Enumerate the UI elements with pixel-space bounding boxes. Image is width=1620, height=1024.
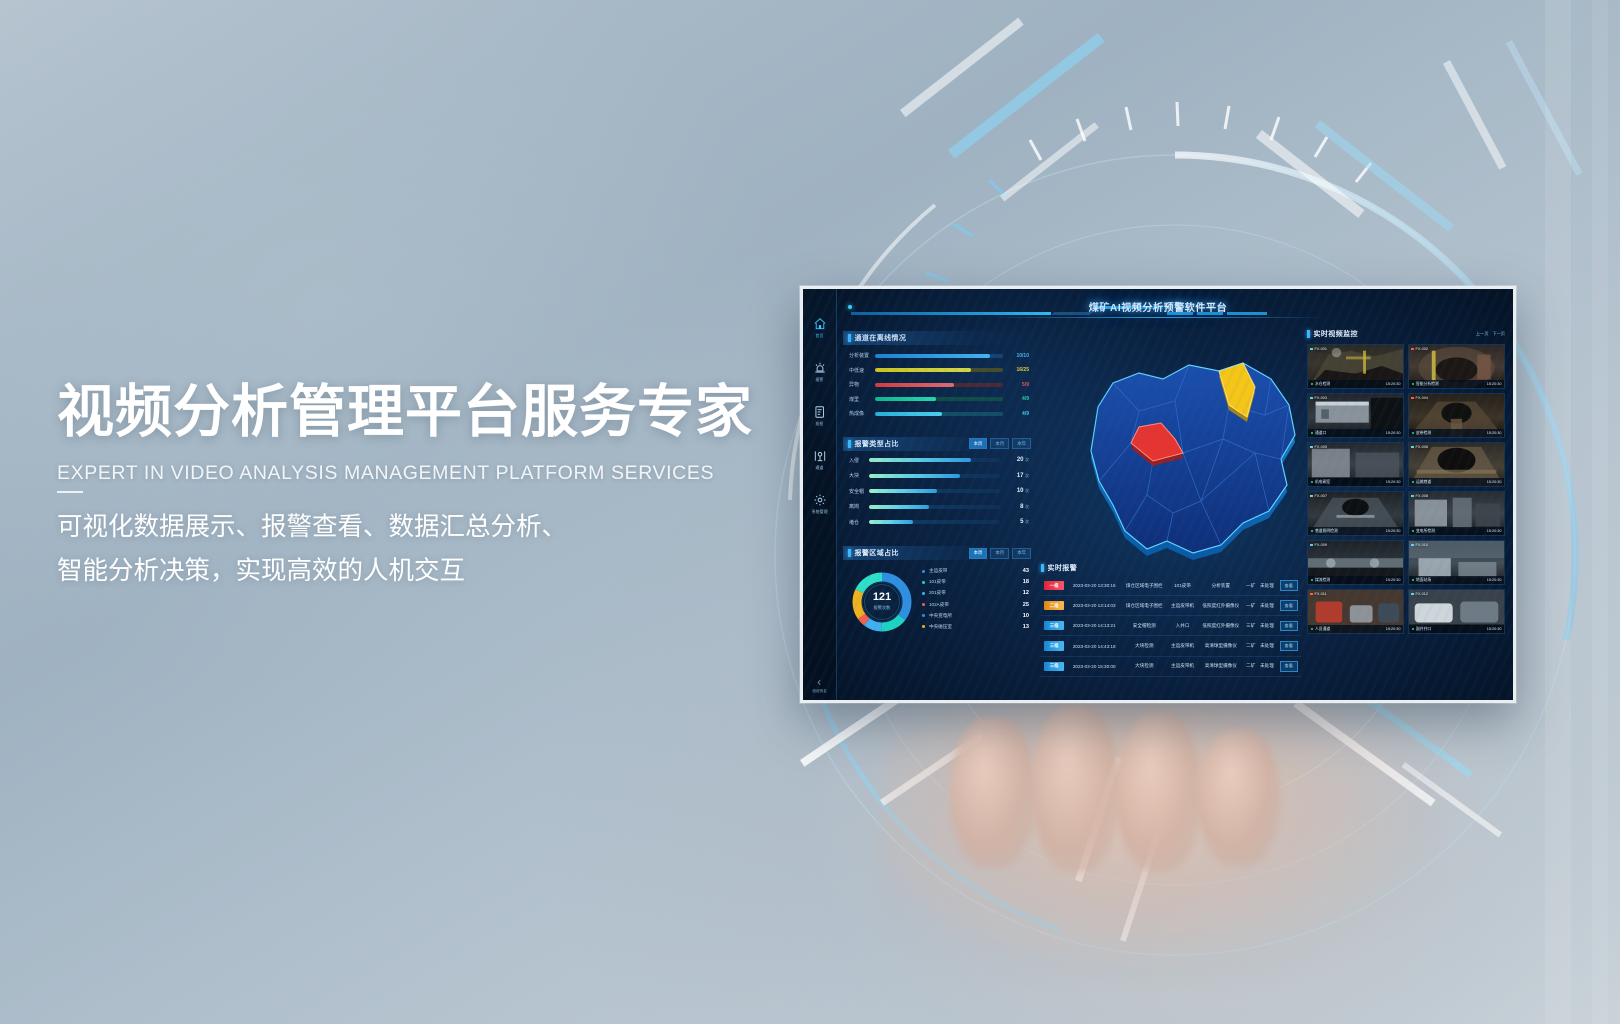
alarm-table: 一级 2023-03-20 13:30:16 煤仓区域电子围栏 101皮带 分析…: [1041, 576, 1301, 677]
video-statusbar: 通道口15:20:30: [1308, 429, 1403, 437]
video-code: FX-005: [1315, 445, 1327, 449]
accent-bar: [1307, 330, 1310, 338]
video-title: 实时视频监控: [1314, 329, 1358, 339]
panel-alarm-area: 报警区域占比 本周 本月 本年: [843, 546, 1035, 641]
video-time: 15:20:30: [1487, 480, 1502, 484]
legend-item: 102A皮带 25: [922, 602, 1029, 608]
donut-caption: 报警次数: [874, 605, 891, 611]
tab-month[interactable]: 本月: [990, 438, 1009, 449]
sidebar-label-channel: 通道: [815, 465, 823, 471]
table-row[interactable]: 三级 2023-03-20 15:30:00 大块检测 主运皮带机 高清球型摄像…: [1041, 656, 1301, 676]
channel-name: 异物: [849, 381, 875, 388]
alarm-type-name: 大块: [849, 472, 869, 479]
sidebar-item-system[interactable]: 系统管理: [803, 493, 836, 515]
alarm-type: 大块检测: [1121, 636, 1168, 656]
channel-row: 煤里 4/9: [849, 396, 1029, 403]
finger-decor-2: [1032, 706, 1120, 872]
panel-video-monitoring: 实时视频监控 上一页 下一页: [1307, 329, 1505, 634]
video-time: 15:20:30: [1487, 431, 1502, 435]
video-code: FX-008: [1416, 494, 1428, 498]
donut-center: 121 报警次数: [864, 584, 900, 620]
legend-value: 12: [1015, 590, 1029, 596]
hero-subtitle-en: EXPERT IN VIDEO ANALYSIS MANAGEMENT PLAT…: [57, 462, 817, 485]
alarm-type-row: 大块 17 次: [849, 472, 1029, 479]
accent-bar: [848, 549, 851, 557]
video-code-tag: FX-004: [1411, 396, 1428, 400]
realtime-alarm-title: 实时报警: [1048, 563, 1078, 573]
sidebar-item-channel[interactable]: 通道: [803, 449, 836, 471]
alarm-type: 煤仓区域电子围栏: [1121, 596, 1168, 616]
alarm-type-value: 5: [1000, 519, 1024, 525]
video-code-tag: FX-007: [1310, 494, 1327, 498]
next-page-button[interactable]: 下一页: [1492, 331, 1505, 337]
legend-item: 中央磁压室 13: [922, 624, 1029, 630]
video-statusbar: 巷道照明检测15:20:30: [1308, 527, 1403, 535]
video-time: 15:20:30: [1386, 382, 1401, 386]
panel-alarm-area-header: 报警区域占比 本周 本月 本年: [843, 546, 1035, 560]
video-statusbar: 煤流检测15:20:30: [1308, 576, 1403, 584]
video-cell[interactable]: FX-001 水仓检测15:20:30: [1307, 344, 1404, 389]
tab-year[interactable]: 本年: [1012, 438, 1031, 449]
sidebar-footer[interactable]: 统设别名: [812, 678, 826, 694]
video-name: 通道口: [1315, 431, 1326, 436]
panel-alarm-type-header: 报警类型占比 本周 本月 本年: [843, 437, 1035, 451]
alarm-type-value: 10: [1000, 488, 1024, 494]
table-row[interactable]: 三级 2023-03-20 14:13:21 安全帽检测 入井口 低照度红外摄像…: [1041, 616, 1301, 636]
video-code: FX-003: [1315, 396, 1327, 400]
video-statusbar: 人员通道15:20:30: [1308, 625, 1403, 633]
status-badge: 一级: [1044, 581, 1064, 590]
legend-item: 201皮带 12: [922, 590, 1029, 596]
tab-week[interactable]: 本周: [969, 548, 988, 559]
video-grid: FX-001 水仓检测15:20:30 FX-002: [1307, 344, 1505, 634]
video-code: FX-009: [1315, 543, 1327, 547]
video-code: FX-001: [1315, 347, 1327, 351]
video-code: FX-006: [1416, 445, 1428, 449]
tab-month[interactable]: 本月: [990, 548, 1009, 559]
panel-channel-header: 通道在离线情况: [843, 331, 1035, 345]
video-code-tag: FX-012: [1411, 592, 1428, 596]
donut-total: 121: [873, 592, 891, 603]
video-code: FX-007: [1315, 494, 1327, 498]
alarm-type: 煤仓区域电子围栏: [1121, 576, 1168, 596]
video-statusbar: 地面站场15:20:30: [1409, 576, 1504, 584]
alarm-place: 主运皮带机: [1168, 596, 1198, 616]
alarm-level-cell: 三级: [1041, 656, 1067, 676]
video-code: FX-002: [1416, 347, 1428, 351]
alarm-type-value: 20: [1000, 457, 1024, 463]
accent-bar: [1041, 564, 1044, 572]
legend-label: 201皮带: [929, 590, 1015, 596]
panel-alarm-type-title: 报警类型占比: [855, 439, 899, 449]
sidebar-label-system: 系统管理: [811, 509, 827, 515]
video-time: 15:20:30: [1386, 627, 1401, 631]
alarm-type-list: 入侵 20 次 大块 17 次 安全帽: [843, 451, 1035, 539]
prev-page-button[interactable]: 上一页: [1476, 331, 1489, 337]
legend-item: 中央变电所 10: [922, 613, 1029, 619]
alarm-type-row: 入侵 20 次: [849, 457, 1029, 464]
alarm-type-unit: 次: [1025, 488, 1029, 494]
sidebar-label-inspection: 巡检: [815, 421, 823, 427]
left-column: 通道在离线情况 分析装置 10/10 中低速 16/25: [843, 331, 1035, 649]
video-statusbar: 智能分析检测15:20:30: [1409, 380, 1504, 388]
alarm-type: 安全帽检测: [1121, 616, 1168, 636]
channel-row: 分析装置 10/10: [849, 352, 1029, 359]
video-time: 15:20:30: [1386, 431, 1401, 435]
alarm-action-cell: 查看: [1276, 596, 1301, 616]
legend-value: 25: [1015, 602, 1029, 608]
alarm-type-unit: 次: [1025, 504, 1029, 510]
sidebar-item-home[interactable]: 首页: [803, 317, 836, 339]
channel-name: 煤里: [849, 396, 875, 403]
alarm-time: 2023-03-20 15:30:00: [1067, 656, 1121, 676]
dashboard-screen: 煤矿AI视频分析预警软件平台 首页 报警: [803, 289, 1513, 700]
video-code-tag: FX-005: [1310, 445, 1327, 449]
table-row[interactable]: 二级 2023-03-20 13:14:03 煤仓区域电子围栏 主运皮带机 低照…: [1041, 596, 1301, 616]
dashboard-title: 煤矿AI视频分析预警软件平台: [803, 299, 1513, 314]
accent-bar: [848, 440, 851, 448]
video-header: 实时视频监控 上一页 下一页: [1307, 329, 1505, 339]
legend-value: 10: [1015, 613, 1029, 619]
hero-desc-line-2: 智能分析决策，实现高效的人机交互: [57, 549, 817, 594]
realtime-alarm-header: 实时报警: [1041, 563, 1301, 573]
video-name: 人员通道: [1315, 627, 1330, 632]
sidebar-label-home: 首页: [815, 333, 823, 339]
alarm-type-unit: 次: [1025, 519, 1029, 525]
donut-legend: 主运皮带 43 101皮带 18 201皮带 12: [913, 568, 1029, 635]
alarm-type-row: 离岗 8 次: [849, 503, 1029, 510]
alarm-type-name: 堵仓: [849, 519, 869, 526]
channel-row: 异物 5/9: [849, 381, 1029, 388]
alarm-type-tabs: 本周 本月 本年: [969, 438, 1035, 449]
alarm-action-cell: 查看: [1276, 616, 1301, 636]
channel-value: 16/25: [1003, 367, 1029, 373]
panel-alarm-type: 报警类型占比 本周 本月 本年 入侵 20 次: [843, 437, 1035, 539]
legend-label: 中央磁压室: [929, 624, 1015, 630]
legend-label: 101皮带: [929, 579, 1015, 585]
video-cell[interactable]: FX-005 机电硐室15:20:30: [1307, 442, 1404, 487]
video-code-tag: FX-006: [1411, 445, 1428, 449]
video-time: 15:20:30: [1386, 578, 1401, 582]
video-statusbar: 皮带检测15:20:30: [1409, 429, 1504, 437]
video-name: 变电所检测: [1416, 529, 1435, 534]
channel-row: 中低速 16/25: [849, 367, 1029, 374]
legend-label: 102A皮带: [929, 602, 1015, 608]
finger-decor-3: [1116, 714, 1202, 872]
video-cell[interactable]: FX-007 巷道照明检测15:20:30: [1307, 491, 1404, 536]
alarm-device: 分析装置: [1198, 576, 1245, 596]
video-cell[interactable]: FX-003 通道口15:20:30: [1307, 393, 1404, 438]
province-map[interactable]: [1043, 335, 1333, 585]
alarm-level-cell: 三级: [1041, 636, 1067, 656]
alarm-mine: 一矿: [1244, 576, 1257, 596]
video-time: 15:20:30: [1487, 529, 1502, 533]
video-code-tag: FX-010: [1411, 543, 1428, 547]
video-name: 智能分析检测: [1416, 382, 1439, 387]
video-name: 运输巷道: [1416, 480, 1431, 485]
video-code-tag: FX-001: [1310, 347, 1327, 351]
alarm-type-row: 安全帽 10 次: [849, 488, 1029, 495]
video-code: FX-004: [1416, 396, 1428, 400]
video-pager: 上一页 下一页: [1476, 331, 1505, 337]
channel-value: 5/9: [1003, 382, 1029, 388]
alarm-type-unit: 次: [1025, 457, 1029, 463]
panel-realtime-alarm: 实时报警 一级 2023-03-20 13:30:16 煤仓区域电子围栏 101…: [1041, 563, 1301, 677]
view-button[interactable]: 查看: [1280, 600, 1298, 611]
video-time: 15:20:30: [1487, 627, 1502, 631]
video-name: 皮带检测: [1416, 431, 1431, 436]
legend-label: 中央变电所: [929, 613, 1015, 619]
alarm-mine: 二矿: [1244, 656, 1257, 676]
video-name: 地面站场: [1416, 578, 1431, 583]
title-underline: [988, 317, 1328, 318]
alarm-type-name: 离岗: [849, 503, 869, 510]
hero-text: 视频分析管理平台服务专家 EXPERT IN VIDEO ANALYSIS MA…: [57, 382, 817, 594]
alarm-level-cell: 一级: [1041, 576, 1067, 596]
alarm-type-row: 堵仓 5 次: [849, 519, 1029, 526]
video-time: 15:20:30: [1386, 480, 1401, 484]
video-statusbar: 运输巷道15:20:30: [1409, 478, 1504, 486]
video-statusbar: 变电所检测15:20:30: [1409, 527, 1504, 535]
video-code: FX-010: [1416, 543, 1428, 547]
video-code-tag: FX-009: [1310, 543, 1327, 547]
alarm-place: 主运皮带机: [1168, 656, 1198, 676]
video-name: 水仓检测: [1315, 382, 1330, 387]
video-statusbar: 水仓检测15:20:30: [1308, 380, 1403, 388]
channel-value: 10/10: [1003, 353, 1029, 359]
video-code-tag: FX-008: [1411, 494, 1428, 498]
sidebar-label-alarm: 报警: [815, 377, 823, 383]
video-code-tag: FX-003: [1310, 396, 1327, 400]
alarm-type-value: 8: [1000, 504, 1024, 510]
video-code-tag: FX-002: [1411, 347, 1428, 351]
legend-value: 43: [1015, 568, 1029, 574]
legend-value: 13: [1015, 624, 1029, 630]
video-statusbar: 机电硐室15:20:30: [1308, 478, 1403, 486]
alarm-place: 主运皮带机: [1168, 636, 1198, 656]
video-time: 15:20:30: [1487, 382, 1502, 386]
view-button[interactable]: 查看: [1280, 661, 1298, 672]
sidebar-footer-label: 统设别名: [812, 689, 826, 694]
video-code: FX-012: [1416, 592, 1428, 596]
alarm-level-cell: 三级: [1041, 616, 1067, 636]
alarm-place: 101皮带: [1168, 576, 1198, 596]
channel-value: 4/9: [1003, 411, 1029, 417]
alarm-action-cell: 查看: [1276, 656, 1301, 676]
video-cell[interactable]: FX-011 人员通道15:20:30: [1307, 589, 1404, 634]
alarm-mine: 一矿: [1244, 596, 1257, 616]
table-row[interactable]: 一级 2023-03-20 13:30:16 煤仓区域电子围栏 101皮带 分析…: [1041, 576, 1301, 596]
alarm-status: 未处理: [1258, 576, 1277, 596]
video-name: 副井井口: [1416, 627, 1431, 632]
video-code-tag: FX-011: [1310, 592, 1327, 596]
sidebar-item-inspection[interactable]: 巡检: [803, 405, 836, 427]
legend-item: 101皮带 18: [922, 579, 1029, 585]
video-time: 15:20:30: [1386, 529, 1401, 533]
finger-decor-4: [1198, 730, 1280, 866]
alarm-type-value: 17: [1000, 473, 1024, 479]
legend-label: 主运皮带: [929, 568, 1015, 574]
alarm-place: 入井口: [1168, 616, 1198, 636]
accent-bar: [848, 334, 851, 342]
video-name: 煤流检测: [1315, 578, 1330, 583]
alarm-type-name: 入侵: [849, 457, 869, 464]
alarm-device: 高清球型摄像仪: [1198, 656, 1245, 676]
alarm-mine: 二矿: [1244, 636, 1257, 656]
alarm-status: 未处理: [1258, 616, 1277, 636]
video-cell[interactable]: FX-012 副井井口15:20:30: [1408, 589, 1505, 634]
status-badge: 二级: [1044, 601, 1064, 610]
alarm-time: 2023-03-20 14:13:21: [1067, 616, 1121, 636]
video-cell[interactable]: FX-002 智能分析检测15:20:30: [1408, 344, 1505, 389]
view-button[interactable]: 查看: [1280, 580, 1298, 591]
monitor-frame: 煤矿AI视频分析预警软件平台 首页 报警: [800, 286, 1516, 703]
alarm-device: 高清球型摄像仪: [1198, 636, 1245, 656]
panel-alarm-area-title: 报警区域占比: [855, 548, 899, 558]
alarm-mine: 三矿: [1244, 616, 1257, 636]
home-icon: [813, 317, 827, 331]
alarm-status: 未处理: [1258, 636, 1277, 656]
video-cell[interactable]: FX-008 变电所检测15:20:30: [1408, 491, 1505, 536]
video-code: FX-011: [1315, 592, 1327, 596]
video-cell[interactable]: FX-004 皮带检测15:20:30: [1408, 393, 1505, 438]
channel-name: 分析装置: [849, 352, 875, 359]
alarm-status: 未处理: [1258, 656, 1277, 676]
video-cell[interactable]: FX-010 地面站场15:20:30: [1408, 540, 1505, 585]
status-badge: 三级: [1044, 662, 1064, 671]
channel-icon: [813, 449, 827, 463]
video-name: 巷道照明检测: [1315, 529, 1338, 534]
panel-channel-status: 通道在离线情况 分析装置 10/10 中低速 16/25: [843, 331, 1035, 429]
sidebar-item-alarm[interactable]: 报警: [803, 361, 836, 383]
view-button[interactable]: 查看: [1280, 621, 1298, 632]
legend-value: 18: [1015, 579, 1029, 585]
video-cell[interactable]: FX-006 运输巷道15:20:30: [1408, 442, 1505, 487]
tab-year[interactable]: 本年: [1012, 548, 1031, 559]
gear-icon: [813, 493, 827, 507]
hero-banner: 视频分析管理平台服务专家 EXPERT IN VIDEO ANALYSIS MA…: [0, 0, 1620, 1024]
alarm-status: 未处理: [1258, 596, 1277, 616]
status-badge: 三级: [1044, 621, 1064, 630]
page-title: 视频分析管理平台服务专家: [57, 382, 817, 444]
channel-row: 热成像 4/9: [849, 410, 1029, 417]
alarm-type-name: 安全帽: [849, 488, 869, 495]
finger-decor-1: [950, 718, 1036, 868]
table-row[interactable]: 三级 2023-03-20 14:43:18 大块检测 主运皮带机 高清球型摄像…: [1041, 636, 1301, 656]
alarm-icon: [813, 361, 827, 375]
hero-desc-line-1: 可视化数据展示、报警查看、数据汇总分析、: [57, 505, 817, 550]
status-badge: 三级: [1044, 641, 1064, 650]
channel-value: 4/9: [1003, 396, 1029, 402]
divider: [57, 491, 83, 493]
alarm-type: 大块检测: [1121, 656, 1168, 676]
channel-bar-list: 分析装置 10/10 中低速 16/25 异物 5/9: [843, 345, 1035, 429]
alarm-time: 2023-03-20 13:30:16: [1067, 576, 1121, 596]
alarm-time: 2023-03-20 14:43:18: [1067, 636, 1121, 656]
alarm-time: 2023-03-20 13:14:03: [1067, 596, 1121, 616]
alarm-area-tabs: 本周 本月 本年: [969, 548, 1035, 559]
video-time: 15:20:30: [1487, 578, 1502, 582]
view-button[interactable]: 查看: [1280, 641, 1298, 652]
alarm-level-cell: 二级: [1041, 596, 1067, 616]
video-name: 机电硐室: [1315, 480, 1330, 485]
alarm-device: 低照度红外摄像仪: [1198, 616, 1245, 636]
channel-name: 中低速: [849, 367, 875, 374]
channel-name: 热成像: [849, 410, 875, 417]
alarm-device: 低照度红外摄像仪: [1198, 596, 1245, 616]
panel-channel-title: 通道在离线情况: [855, 333, 907, 343]
alarm-area-chart: 121 报警次数 主运皮带 43: [843, 560, 1035, 641]
inspection-icon: [813, 405, 827, 419]
donut-chart: 121 报警次数: [851, 571, 913, 633]
video-statusbar: 副井井口15:20:30: [1409, 625, 1504, 633]
sidebar: 首页 报警 巡检 通道: [803, 289, 837, 700]
tab-week[interactable]: 本周: [969, 438, 988, 449]
alarm-action-cell: 查看: [1276, 576, 1301, 596]
legend-item: 主运皮带 43: [922, 568, 1029, 574]
alarm-action-cell: 查看: [1276, 636, 1301, 656]
alarm-type-unit: 次: [1025, 473, 1029, 479]
video-cell[interactable]: FX-009 煤流检测15:20:30: [1307, 540, 1404, 585]
